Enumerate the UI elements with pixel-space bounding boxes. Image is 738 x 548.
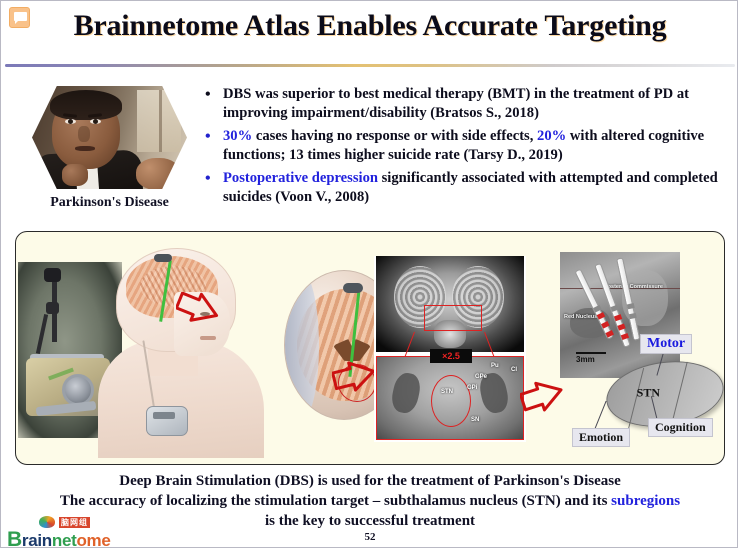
stn-label-red-nucleus: Red Nucleus <box>564 314 597 320</box>
probe-contact <box>617 324 625 331</box>
brainnetome-logo: 脑网组 Brainnetome <box>5 516 165 548</box>
mri-label-stn: STN <box>441 389 453 395</box>
portrait-mouth <box>75 146 95 151</box>
dbs-burr-hole-cap <box>154 254 172 262</box>
portrait-nose <box>78 126 90 142</box>
callout-cognition: Cognition <box>648 418 713 437</box>
probe-contact <box>593 305 601 313</box>
mri-label-cl: Cl <box>511 367 517 373</box>
mri-magnified-slice: Pu Cl GPe GPi STN SN <box>376 356 524 440</box>
bullet-item-2: • 30% cases having no response or with s… <box>205 127 733 165</box>
portrait-eye-left <box>65 119 76 124</box>
stereotactic-arm <box>36 314 48 354</box>
sphere-skull-band <box>284 271 319 420</box>
mri-nucleus-left <box>389 371 423 416</box>
leader-line-emotion <box>594 401 606 429</box>
stn-nucleus-label: STN <box>637 385 660 400</box>
bullet-marker-icon: • <box>205 85 223 104</box>
dbs-pulse-generator <box>146 406 188 436</box>
mri-coronal-slice <box>376 256 524 352</box>
probe-contact <box>597 312 605 320</box>
bullet-item-1: • DBS was superior to best medical thera… <box>205 85 733 123</box>
portrait-fist-left <box>62 164 88 186</box>
mri-label-gpi: GPi <box>467 385 477 391</box>
probe-contact <box>601 321 609 329</box>
callout-emotion: Emotion <box>572 428 630 447</box>
callout-motor: Motor <box>640 334 692 354</box>
mri-composite: ×2.5 Pu Cl GPe GPi STN SN <box>374 256 526 442</box>
bullet-marker-icon: • <box>205 169 223 188</box>
title-divider <box>5 64 735 67</box>
stn-label-posterior-commissure: Posterior Commissure <box>604 284 663 290</box>
stereotactic-knob <box>44 268 61 282</box>
page-title: Brainnetome Atlas Enables Accurate Targe… <box>1 9 738 43</box>
arrow-2-icon <box>332 360 376 394</box>
bullet-text-1: DBS was superior to best medical therapy… <box>223 85 733 123</box>
portrait-window <box>137 90 181 152</box>
stn-schematic-panel: Posterior Commissure Red Nucleus 3mm <box>554 250 725 450</box>
bullet-list: • DBS was superior to best medical thera… <box>205 85 733 211</box>
portrait-fist-right <box>136 158 180 189</box>
stn-scale-text: 3mm <box>576 355 595 364</box>
bullet-item-3: • Postoperative depression significantly… <box>205 169 733 207</box>
patient-lips <box>200 336 216 340</box>
mri-label-pu: Pu <box>491 363 499 369</box>
mri-label-sn: SN <box>471 417 479 423</box>
summary-line-2: The accuracy of localizing the stimulati… <box>1 491 738 511</box>
summary-line-1: Deep Brain Stimulation (DBS) is used for… <box>1 471 738 491</box>
portrait-image <box>32 86 187 189</box>
stereotactic-knob-2 <box>46 302 59 314</box>
stn-subregion-divider-2 <box>671 362 687 424</box>
slide: Brainnetome Atlas Enables Accurate Targe… <box>0 0 738 548</box>
arrow-1-icon <box>176 292 220 326</box>
brain-icon <box>39 516 55 528</box>
probe-contact <box>627 303 635 309</box>
probe-contact <box>611 305 619 312</box>
portrait-caption: Parkinson's Disease <box>32 195 187 211</box>
logo-wordmark: Brainnetome <box>7 528 111 548</box>
bullet-marker-icon: • <box>205 127 223 146</box>
probe-contact <box>606 330 614 338</box>
mri-zoom-label: ×2.5 <box>430 349 472 363</box>
portrait-hair <box>50 90 122 120</box>
bullet-text-2: 30% cases having no response or with sid… <box>223 127 733 165</box>
sphere-electrode-cap <box>343 283 363 293</box>
portrait-block: Parkinson's Disease <box>32 86 187 211</box>
probe-contact <box>629 313 637 319</box>
portrait-eye-right <box>90 119 101 124</box>
bullet-text-3: Postoperative depression significantly a… <box>223 169 733 207</box>
probe-contact <box>621 333 629 340</box>
probe-contact <box>614 314 622 321</box>
mri-roi-box <box>424 305 482 331</box>
head-illustration <box>88 244 268 454</box>
figure-panel: ×2.5 Pu Cl GPe GPi STN SN <box>15 231 725 465</box>
mri-stn-circle <box>431 375 471 427</box>
logo-cn-badge: 脑网组 <box>59 517 90 528</box>
mri-label-gpe: GPe <box>475 374 487 380</box>
stn-scale-bar <box>576 352 606 354</box>
